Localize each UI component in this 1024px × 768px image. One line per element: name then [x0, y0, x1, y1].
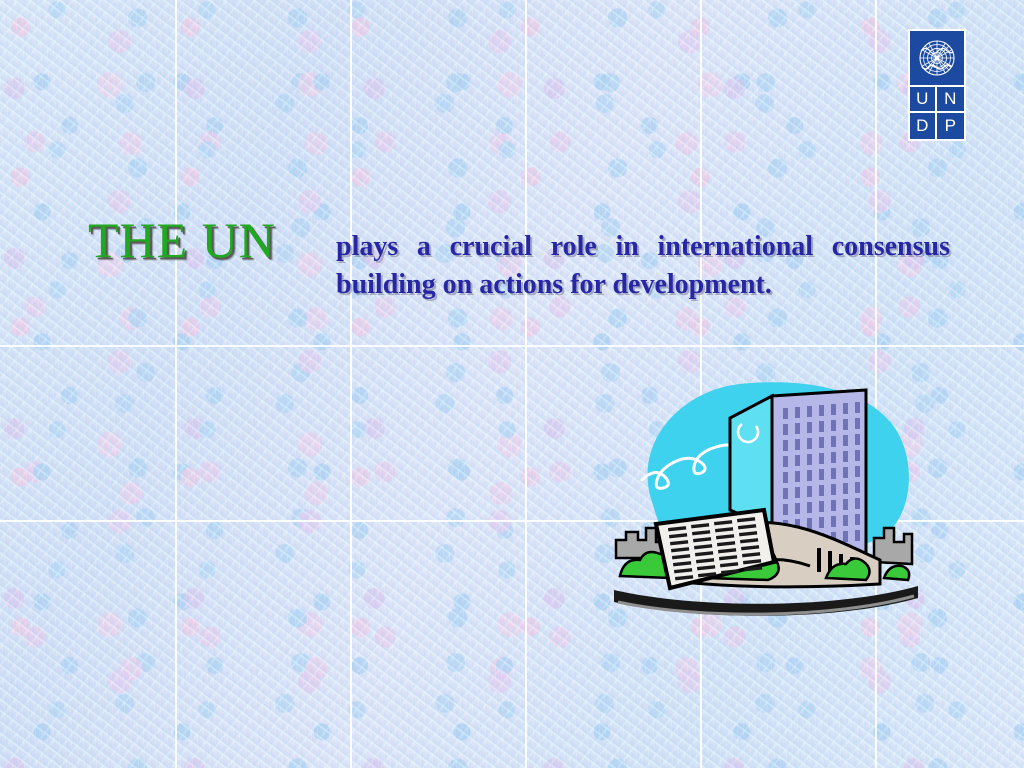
body-paragraph-text: plays a crucial role in international co… — [336, 231, 950, 300]
ground-base — [614, 586, 918, 616]
page-title: THE UN — [88, 214, 276, 266]
tower-side-face — [730, 396, 772, 528]
undp-letter-n: N — [937, 87, 964, 113]
undp-logo-letters: U N D P — [910, 87, 964, 139]
undp-logo: U N D P — [908, 29, 966, 141]
body-paragraph: plays a crucial role in international co… — [336, 228, 950, 304]
undp-letter-p: P — [937, 113, 964, 139]
un-emblem-icon — [910, 31, 964, 87]
un-headquarters-illustration — [612, 362, 930, 630]
slide-canvas: U N D P THE UN plays a crucial role in i… — [0, 0, 1024, 768]
undp-letter-d: D — [910, 113, 937, 139]
undp-letter-u: U — [910, 87, 937, 113]
